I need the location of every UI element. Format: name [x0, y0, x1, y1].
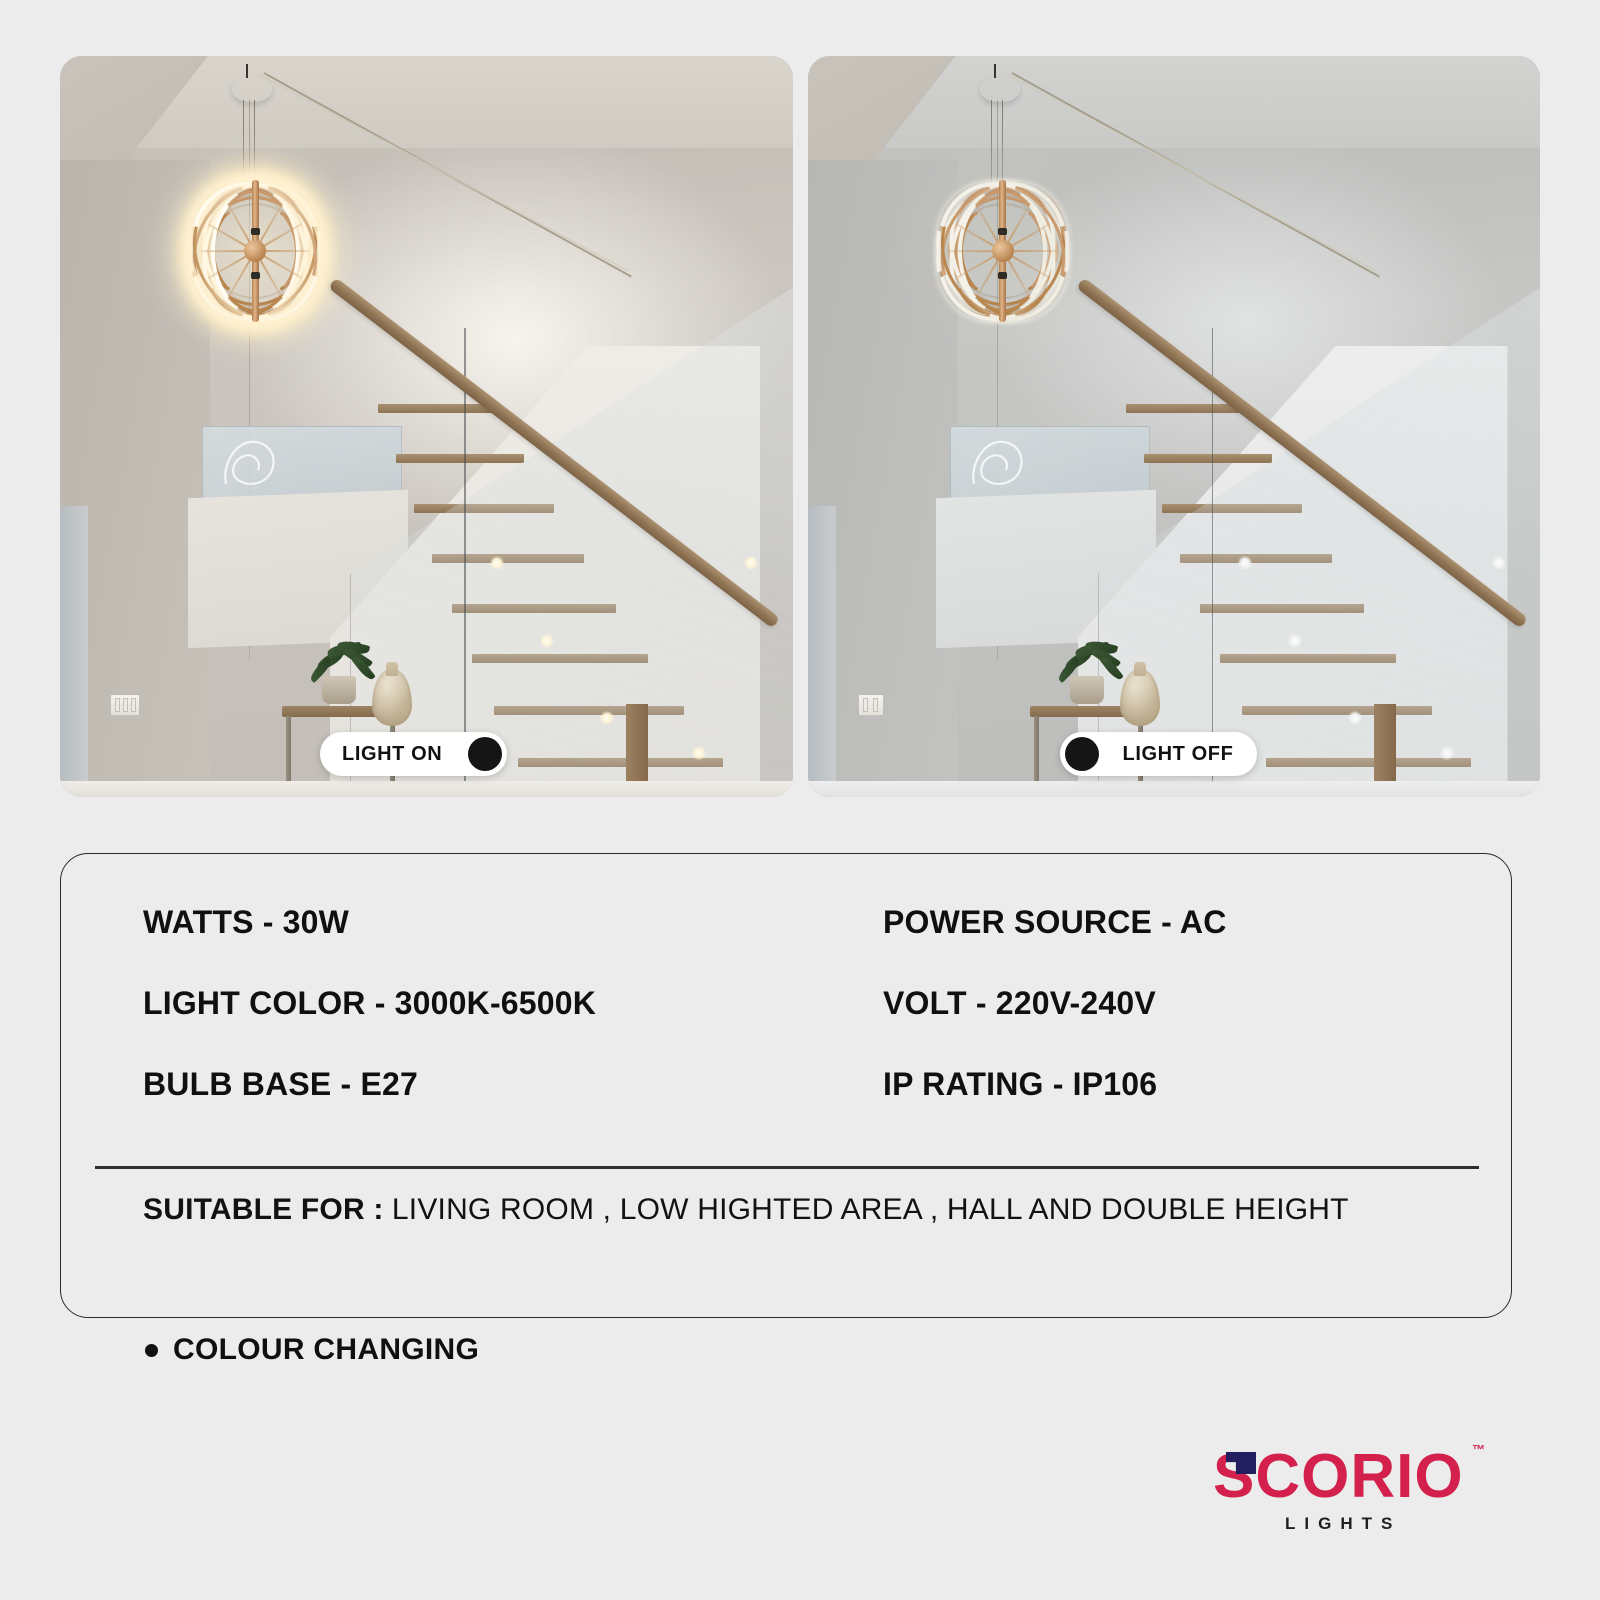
suitable-for-label: SUITABLE FOR :: [143, 1193, 384, 1226]
recessed-downlight: [1238, 556, 1252, 570]
chandelier-hub: [244, 240, 266, 262]
recessed-downlight: [540, 634, 554, 648]
recessed-downlight: [1348, 711, 1362, 725]
decorative-vase: [372, 670, 412, 726]
light-switch-plate: [110, 694, 140, 716]
logo-subtitle: LIGHTS: [1285, 1514, 1401, 1534]
light-switch-plate: [858, 694, 884, 716]
baseboard: [808, 781, 1541, 797]
recessed-downlight: [744, 556, 758, 570]
room-scene-on: [60, 56, 793, 797]
recessed-downlight: [490, 556, 504, 570]
badge-label: LIGHT ON: [342, 743, 442, 766]
stair-tread: [1144, 454, 1272, 463]
wall-art-squiggle: [220, 436, 282, 492]
suitable-for-row: SUITABLE FOR : LIVING ROOM , LOW HIGHTED…: [143, 1189, 1443, 1231]
photo-light-on[interactable]: LIGHT ON: [60, 56, 793, 797]
chandelier-fixture: [180, 176, 330, 326]
badge-label: LIGHT OFF: [1123, 743, 1234, 766]
recessed-downlight: [1288, 634, 1302, 648]
spec-light-color: LIGHT COLOR - 3000K-6500K: [143, 963, 883, 1044]
doorway-opening: [808, 506, 836, 797]
spec-bulb-base: BULB BASE - E27: [143, 1044, 883, 1125]
suspension-cable: [1002, 100, 1003, 186]
recessed-downlight: [692, 746, 706, 760]
baseboard: [60, 781, 793, 797]
suspension-cable: [254, 100, 255, 186]
stair-tread: [378, 404, 496, 413]
feature-colour-changing: COLOUR CHANGING: [145, 1333, 479, 1367]
plant-pot: [322, 676, 356, 704]
specification-grid: WATTS - 30W POWER SOURCE - AC LIGHT COLO…: [143, 882, 1433, 1125]
ceiling-rose: [980, 76, 1020, 102]
badge-light-off[interactable]: LIGHT OFF: [1060, 732, 1258, 776]
ceiling-hook: [994, 64, 996, 78]
suitable-for-value: LIVING ROOM , LOW HIGHTED AREA , HALL AN…: [392, 1193, 1349, 1226]
photo-light-off[interactable]: LIGHT OFF: [808, 56, 1541, 797]
glass-panel-seam: [1212, 328, 1214, 797]
card-divider: [95, 1166, 1479, 1169]
chandelier-fixture: [928, 176, 1078, 326]
spec-ip-rating: IP RATING - IP106: [883, 1044, 1433, 1125]
spec-power-source: POWER SOURCE - AC: [883, 882, 1433, 963]
specification-card: WATTS - 30W POWER SOURCE - AC LIGHT COLO…: [60, 853, 1512, 1318]
stair-tread: [396, 454, 524, 463]
plant-pot: [1070, 676, 1104, 704]
recessed-downlight: [1492, 556, 1506, 570]
photo-comparison-gallery: LIGHT ON: [60, 56, 1540, 797]
toggle-knob[interactable]: [468, 737, 502, 771]
doorway-opening: [60, 506, 88, 797]
toggle-knob[interactable]: [1065, 737, 1099, 771]
stair-tread: [1126, 404, 1244, 413]
recessed-downlight: [1440, 746, 1454, 760]
glass-panel-seam: [464, 328, 466, 797]
suspension-cable: [243, 100, 244, 186]
decorative-vase: [1120, 670, 1160, 726]
trademark-icon: ™: [1472, 1442, 1485, 1457]
spec-volt: VOLT - 220V-240V: [883, 963, 1433, 1044]
brand-logo: SCORIO ™ LIGHTS: [1213, 1438, 1483, 1550]
room-scene-off: [808, 56, 1541, 797]
chandelier-hub: [992, 240, 1014, 262]
wall-art-squiggle: [968, 436, 1030, 492]
bullet-dot-icon: [145, 1344, 158, 1357]
ceiling-hook: [246, 64, 248, 78]
spec-watts: WATTS - 30W: [143, 882, 883, 963]
ceiling-rose: [232, 76, 272, 102]
badge-light-on[interactable]: LIGHT ON: [320, 732, 507, 776]
suspension-cable: [991, 100, 992, 186]
feature-label: COLOUR CHANGING: [173, 1333, 479, 1367]
recessed-downlight: [600, 711, 614, 725]
